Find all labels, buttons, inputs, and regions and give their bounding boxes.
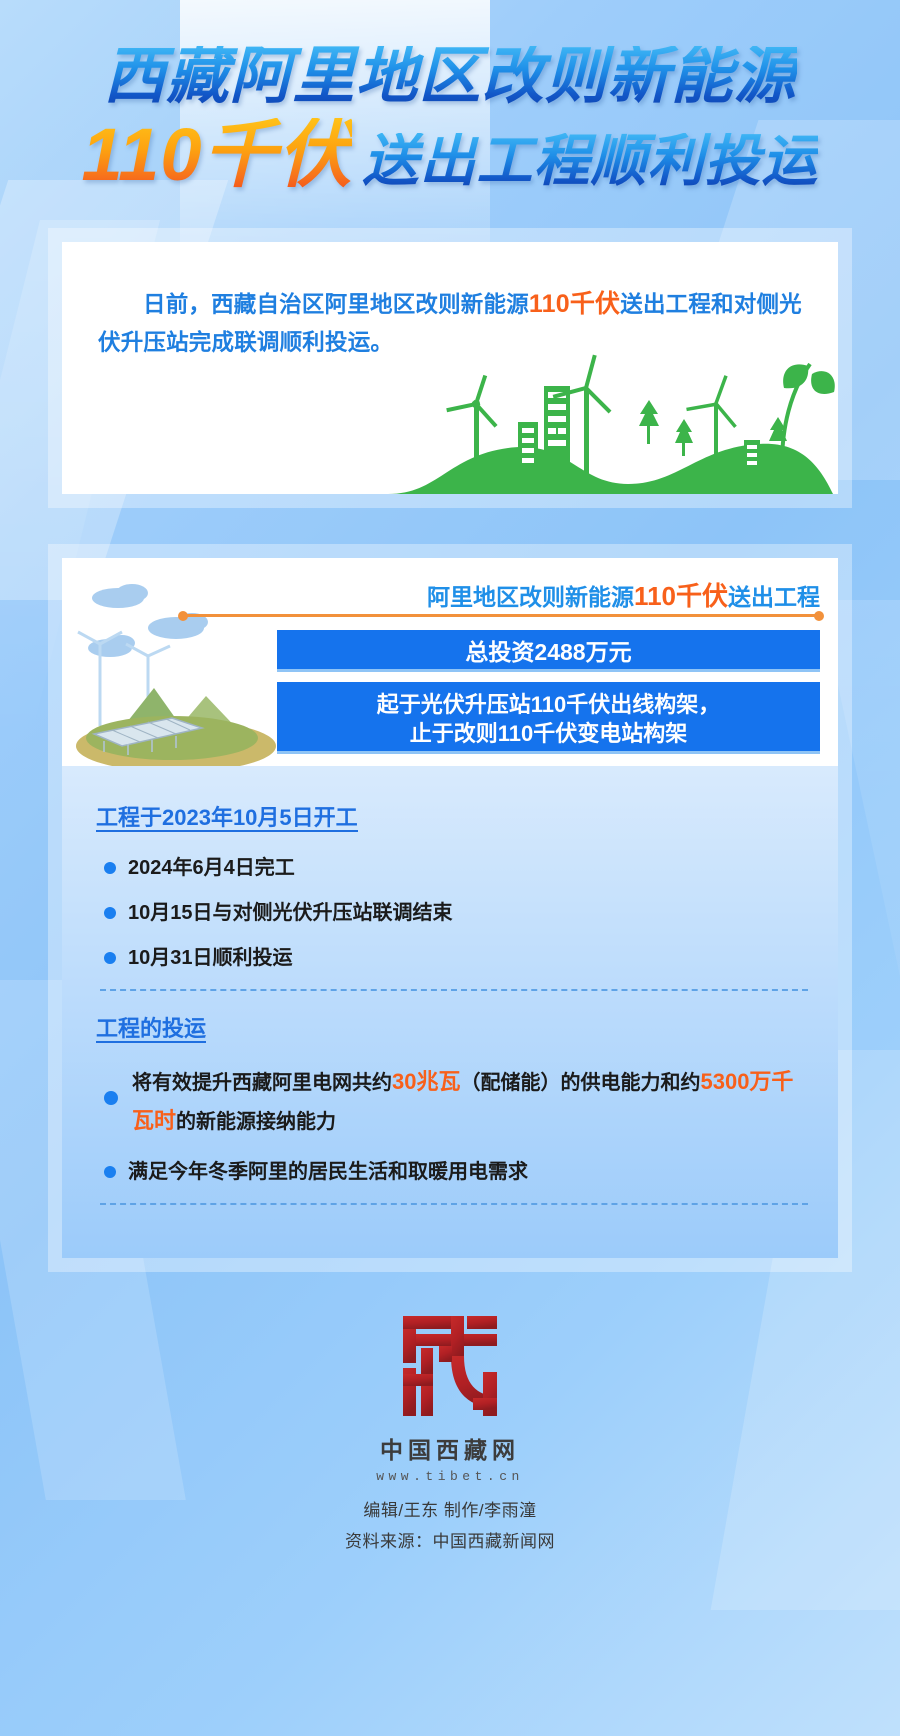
detail-card-inner: 阿里地区改则新能源110千伏送出工程 总投资2488万元 起于光伏升压站110千… <box>62 558 838 1258</box>
operation-benefit-paragraph: 将有效提升西藏阿里电网共约30兆瓦（配储能）的供电能力和约5300万千瓦时的新能… <box>102 1063 808 1140</box>
benefit-text: 将有效提升西藏阿里电网共约30兆瓦（配储能）的供电能力和约5300万千瓦时的新能… <box>132 1063 808 1140</box>
heading-after: 送出工程 <box>728 584 820 610</box>
heading-voltage-highlight: 110千伏 <box>634 581 728 611</box>
benefit-after: 的新能源接纳能力 <box>176 1111 336 1133</box>
investment-banner: 总投资2488万元 <box>277 630 820 672</box>
site-name: 中国西藏网 <box>0 1431 900 1465</box>
list-item: 10月31日顺利投运 <box>102 944 808 973</box>
route-banner-line-2: 止于改则110千伏变电站构架 <box>277 719 820 748</box>
section-divider-2 <box>100 1203 808 1205</box>
heading-before: 阿里地区改则新能源 <box>427 584 634 610</box>
intro-voltage-highlight: 110千伏 <box>529 290 620 318</box>
benefit-mid: （配储能）的供电能力和约 <box>460 1072 700 1094</box>
page-header: 西藏阿里地区改则新能源 110千伏送出工程顺利投运 <box>0 0 900 192</box>
credit-source: 资料来源：中国西藏新闻网 <box>0 1527 900 1552</box>
section-title-operation: 工程的投运 <box>92 1011 214 1045</box>
route-banner: 起于光伏升压站110千伏出线构架， 止于改则110千伏变电站构架 <box>277 682 820 754</box>
route-banner-line-1: 起于光伏升压站110千伏出线构架， <box>277 690 820 719</box>
title-voltage-accent: 110千伏 <box>82 118 353 192</box>
title-line-2: 110千伏送出工程顺利投运 <box>0 118 900 192</box>
solar-panel-illustration <box>76 576 276 766</box>
tibet-zang-logo-icon <box>395 1312 505 1420</box>
title-main-text: 西藏阿里地区改则新能源 <box>103 46 796 108</box>
section-title-operation-text: 工程的投运 <box>96 1016 206 1043</box>
benefit-before: 将有效提升西藏阿里电网共约 <box>132 1072 392 1094</box>
heading-rule <box>182 614 820 617</box>
section-title-construction-text: 工程于2023年10月5日开工 <box>96 805 358 832</box>
detail-card: 阿里地区改则新能源110千伏送出工程 总投资2488万元 起于光伏升压站110千… <box>48 544 852 1272</box>
intro-card: 日前，西藏自治区阿里地区改则新能源110千伏送出工程和对侧光伏升压站完成联调顺利… <box>48 228 852 508</box>
section-title-construction: 工程于2023年10月5日开工 <box>92 800 366 834</box>
detail-card-heading: 阿里地区改则新能源110千伏送出工程 <box>277 576 820 613</box>
page-footer: 中国西藏网 www.tibet.cn 编辑/王东 制作/李雨潼 资料来源：中国西… <box>0 1312 900 1552</box>
detail-card-top: 阿里地区改则新能源110千伏送出工程 总投资2488万元 起于光伏升压站110千… <box>62 558 838 766</box>
detail-card-body: 工程于2023年10月5日开工 2024年6月4日完工 10月15日与对侧光伏升… <box>62 766 838 1258</box>
credit-editor: 编辑/王东 制作/李雨潼 <box>0 1496 900 1521</box>
construction-milestones-list: 2024年6月4日完工 10月15日与对侧光伏升压站联调结束 10月31日顺利投… <box>102 854 808 973</box>
list-item: 2024年6月4日完工 <box>102 854 808 883</box>
operation-benefit-list: 满足今年冬季阿里的居民生活和取暖用电需求 <box>102 1158 808 1187</box>
section-divider-1 <box>100 989 808 991</box>
title-tail-text: 送出工程顺利投运 <box>362 133 818 189</box>
list-item: 满足今年冬季阿里的居民生活和取暖用电需求 <box>102 1158 808 1187</box>
intro-card-inner: 日前，西藏自治区阿里地区改则新能源110千伏送出工程和对侧光伏升压站完成联调顺利… <box>62 242 838 494</box>
site-url: www.tibet.cn <box>0 1469 900 1484</box>
title-line-1: 西藏阿里地区改则新能源 <box>0 46 900 108</box>
list-item: 10月15日与对侧光伏升压站联调结束 <box>102 899 808 928</box>
benefit-capacity-highlight: 30兆瓦 <box>392 1069 460 1094</box>
intro-text-before: 日前，西藏自治区阿里地区改则新能源 <box>143 292 529 317</box>
green-eco-illustration <box>378 344 838 494</box>
